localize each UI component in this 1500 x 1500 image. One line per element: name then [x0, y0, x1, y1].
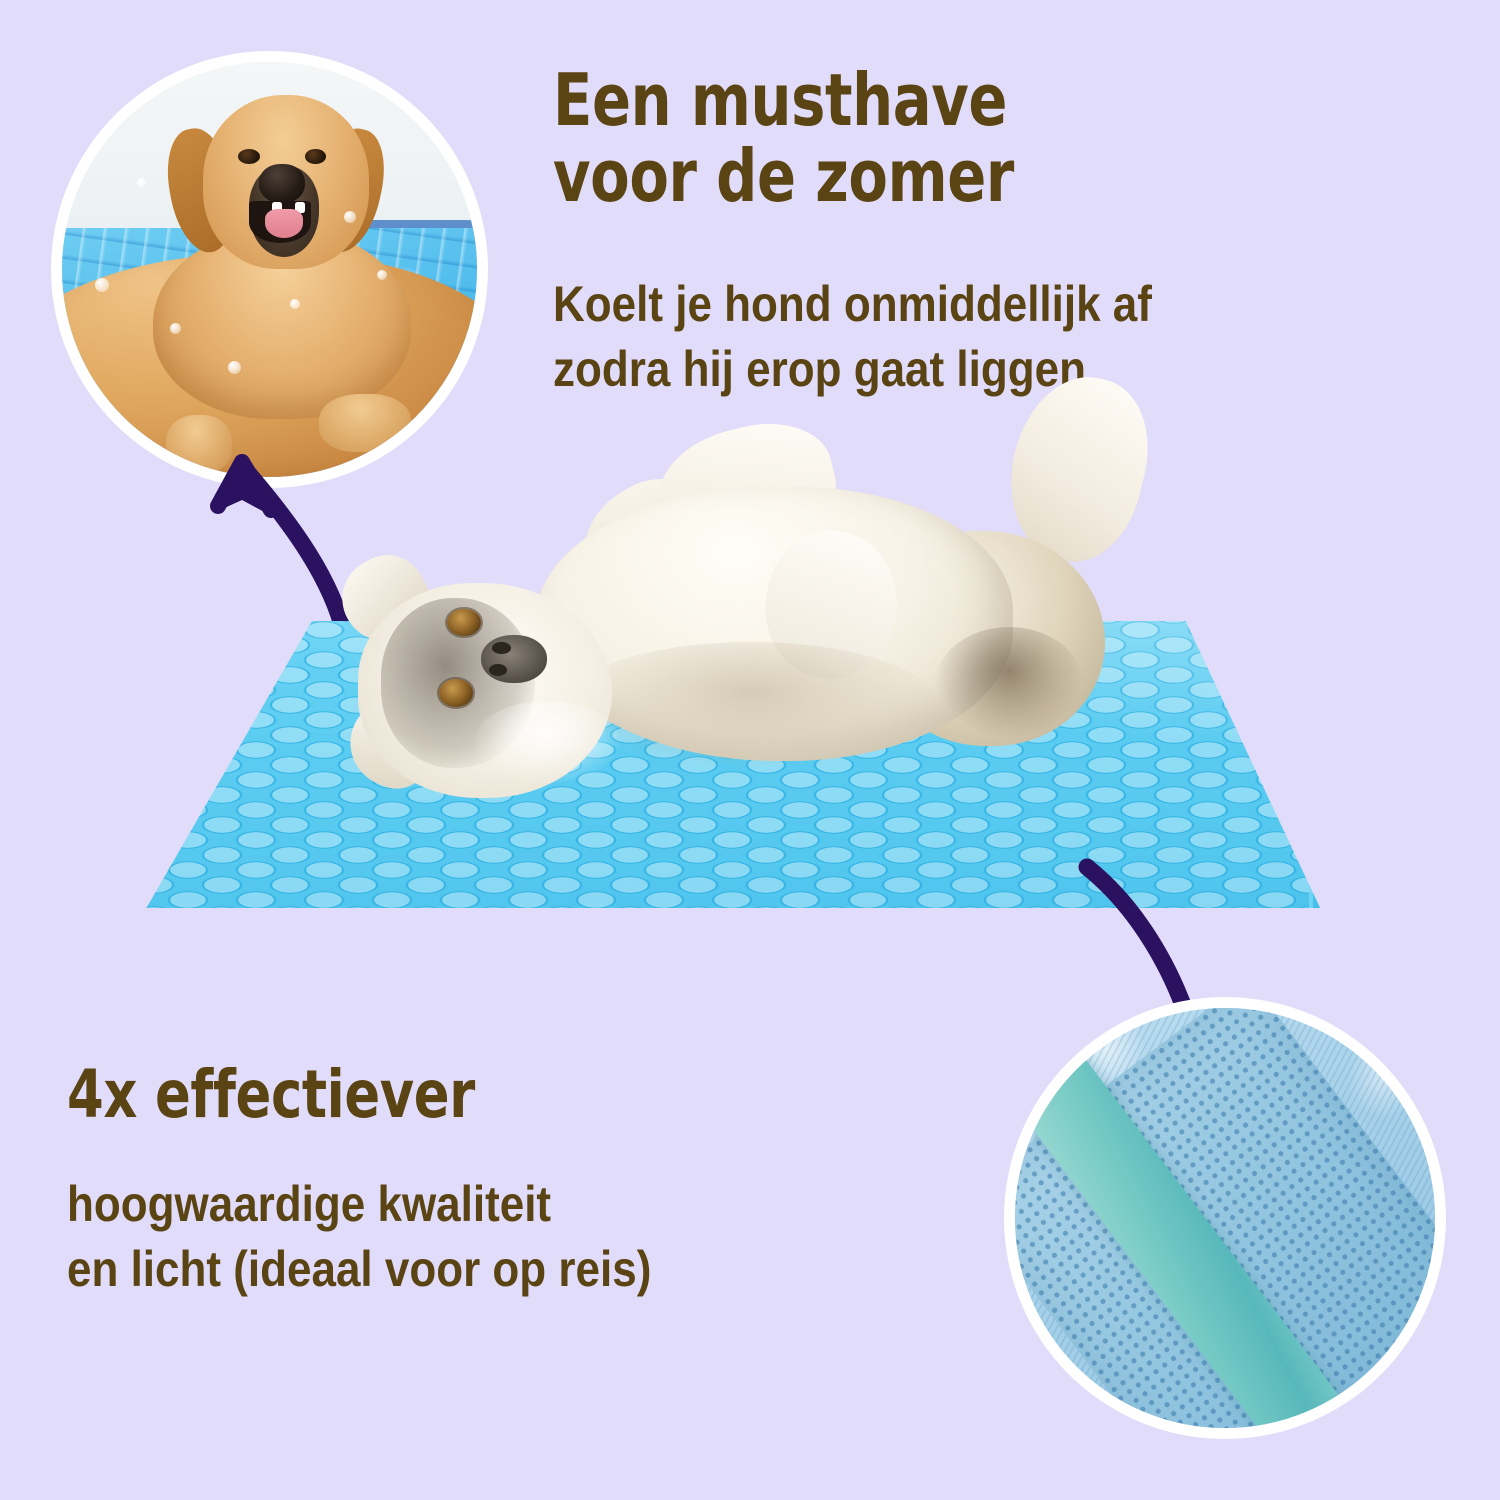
- husky-nose: [481, 635, 546, 683]
- fabric-photo: [1015, 1008, 1435, 1428]
- husky-cheek: [474, 701, 620, 782]
- water-droplet: [228, 361, 241, 374]
- water-droplet: [137, 178, 146, 187]
- bottom-subline: hoogwaardige kwaliteit en licht (ideaal …: [67, 1172, 651, 1302]
- husky-photo: [335, 435, 1105, 805]
- husky-rump-shading: [936, 627, 1082, 738]
- product-feature-poster: Een musthave voor de zomer Koelt je hond…: [0, 0, 1500, 1500]
- water-droplet: [95, 278, 109, 292]
- retriever-nose: [259, 164, 305, 203]
- water-droplet: [290, 299, 300, 309]
- bottom-headline: 4x effectiever: [67, 1060, 475, 1130]
- water-droplet: [377, 270, 387, 280]
- retriever-eye-left: [238, 149, 260, 164]
- top-headline: Een musthave voor de zomer: [553, 62, 1014, 215]
- husky-eye-upper: [447, 609, 481, 636]
- husky-belly-shading: [566, 642, 936, 768]
- retriever-photo: [62, 62, 477, 477]
- fabric-photo-circle: [1015, 1008, 1435, 1428]
- husky-nostril-left: [492, 642, 510, 654]
- husky-eye-lower: [439, 679, 473, 706]
- retriever-photo-circle: [62, 62, 477, 477]
